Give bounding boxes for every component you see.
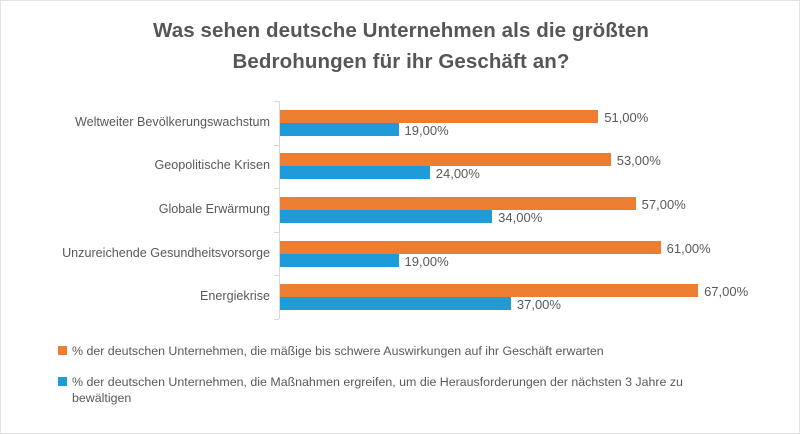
bar-series-1[interactable]	[280, 254, 399, 267]
bar-series-0[interactable]	[280, 284, 698, 297]
category-label: Globale Erwärmung	[11, 202, 279, 216]
legend-label-series-1: % der deutschen Unternehmen, die Maßnahm…	[72, 374, 744, 407]
bar-series-0[interactable]	[280, 110, 598, 123]
legend-entry-1[interactable]: % der deutschen Unternehmen, die Maßnahm…	[58, 374, 758, 407]
category-axis-tick	[274, 275, 279, 276]
bar-value-label: 67,00%	[704, 285, 748, 298]
bar-series-1[interactable]	[280, 297, 511, 310]
legend-label-series-0: % der deutschen Unternehmen, die mäßige …	[72, 343, 604, 360]
bar-series-0[interactable]	[280, 153, 611, 166]
bar-value-label: 34,00%	[498, 211, 542, 224]
legend-swatch-icon-series-1	[58, 377, 67, 386]
category-axis-tick	[274, 319, 279, 320]
bar-value-label: 24,00%	[436, 167, 480, 180]
plot-area: 51,00%19,00%53,00%24,00%57,00%34,00%61,0…	[279, 101, 791, 319]
category-label: Unzureichende Gesundheitsvorsorge	[11, 246, 279, 260]
category-label: Weltweiter Bevölkerungswachstum	[11, 115, 279, 129]
category-label: Energiekrise	[11, 289, 279, 303]
chart-legend: % der deutschen Unternehmen, die mäßige …	[58, 343, 758, 421]
chart-title-line-1: Was sehen deutsche Unternehmen als die g…	[91, 15, 711, 46]
bar-value-label: 19,00%	[405, 124, 449, 137]
bar-series-1[interactable]	[280, 166, 430, 179]
bar-value-label: 61,00%	[667, 242, 711, 255]
bar-series-1[interactable]	[280, 123, 399, 136]
bar-series-1[interactable]	[280, 210, 492, 223]
category-axis-labels: Weltweiter BevölkerungswachstumGeopoliti…	[1, 101, 279, 319]
legend-entry-0[interactable]: % der deutschen Unternehmen, die mäßige …	[58, 343, 758, 360]
category-axis-tick	[274, 188, 279, 189]
bar-value-label: 53,00%	[617, 154, 661, 167]
category-axis-tick	[274, 232, 279, 233]
chart-title: Was sehen deutsche Unternehmen als die g…	[91, 15, 711, 77]
category-axis-tick	[274, 145, 279, 146]
legend-swatch-icon-series-0	[58, 346, 67, 355]
bar-value-label: 51,00%	[604, 111, 648, 124]
bar-series-0[interactable]	[280, 241, 661, 254]
chart-title-line-2: Bedrohungen für ihr Geschäft an?	[91, 46, 711, 77]
bar-value-label: 19,00%	[405, 255, 449, 268]
bar-series-0[interactable]	[280, 197, 636, 210]
bar-value-label: 57,00%	[642, 198, 686, 211]
category-label: Geopolitische Krisen	[11, 158, 279, 172]
chart-container: Was sehen deutsche Unternehmen als die g…	[0, 0, 800, 434]
bar-value-label: 37,00%	[517, 298, 561, 311]
category-axis-tick	[274, 101, 279, 102]
